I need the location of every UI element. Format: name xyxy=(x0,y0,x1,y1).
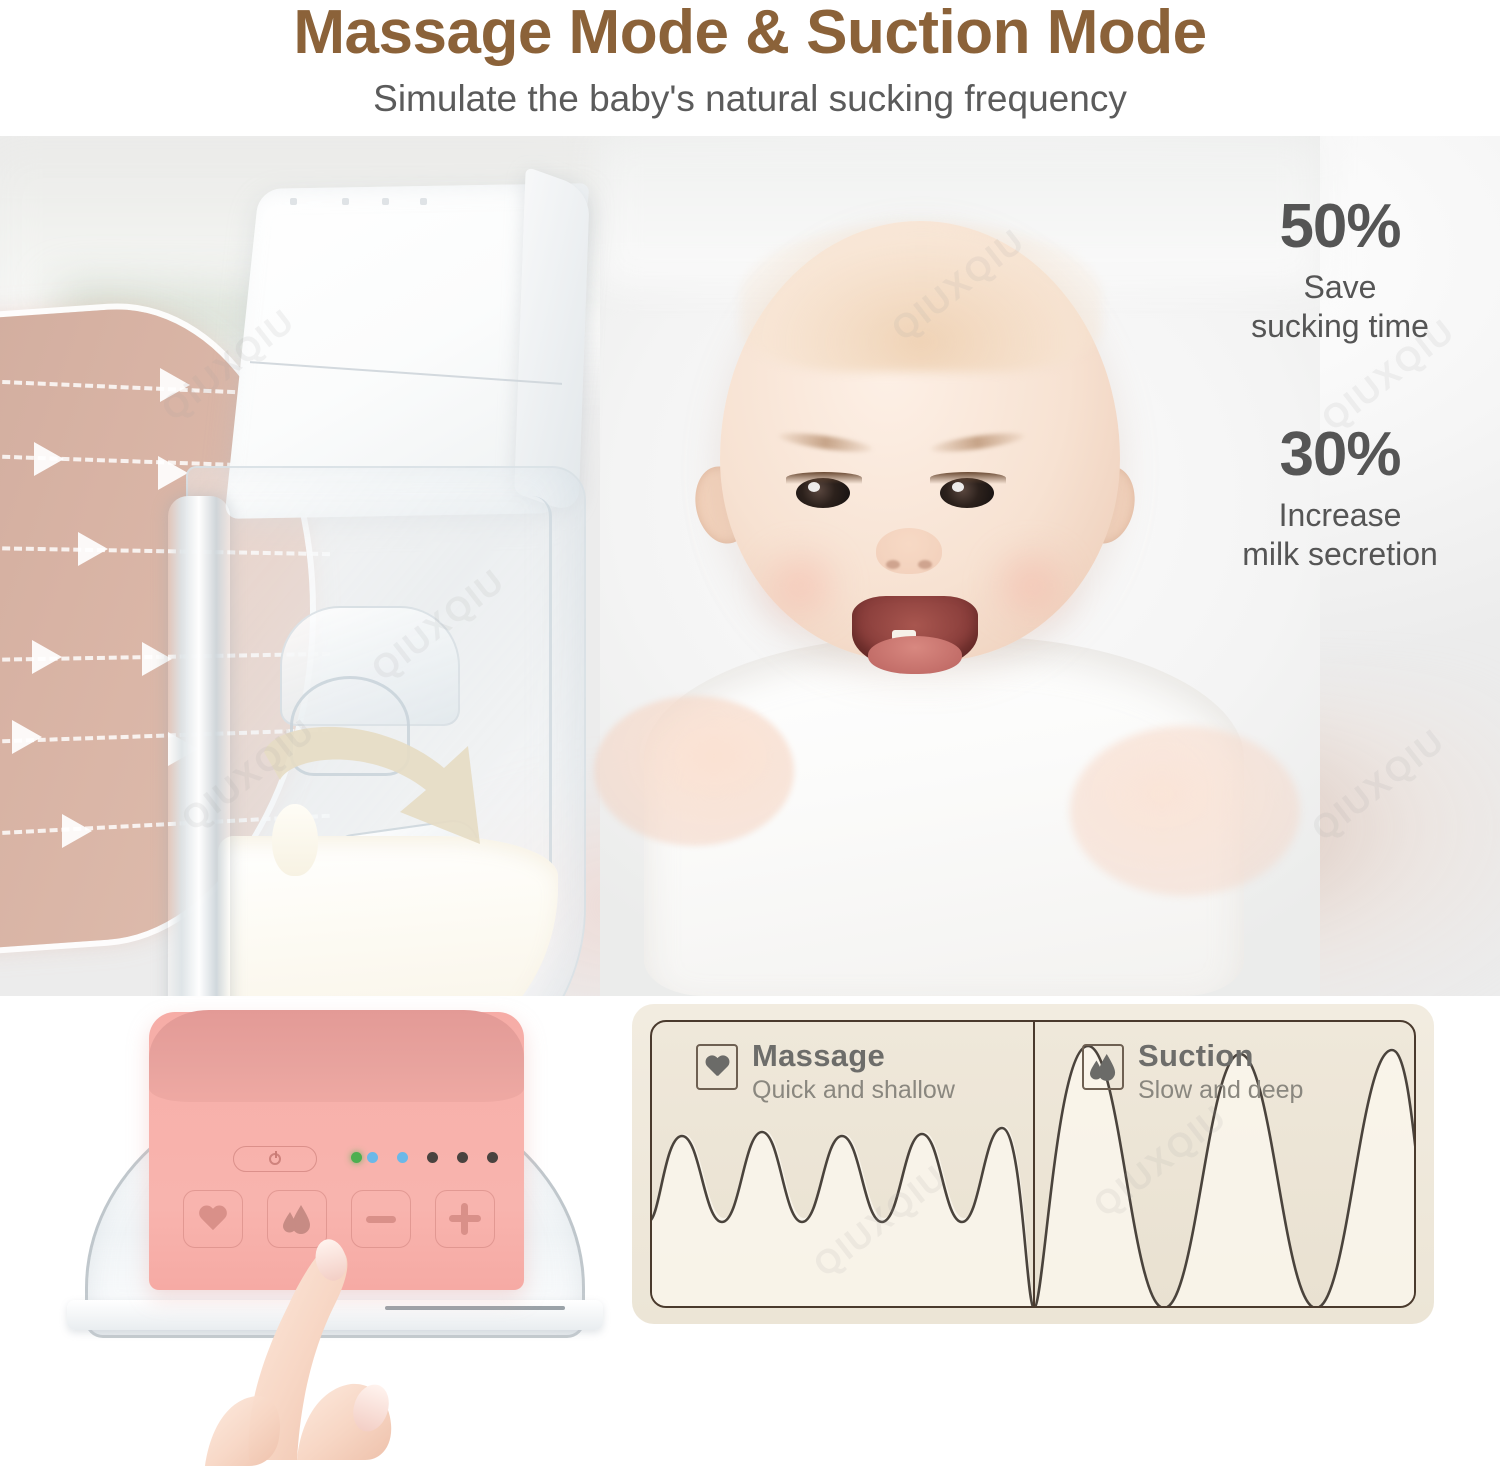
stat-line-2: sucking time xyxy=(1180,307,1500,346)
level-indicator-leds xyxy=(367,1152,497,1164)
hero-image-stage: 50% Save sucking time 30% Increase milk … xyxy=(0,136,1500,996)
baby-nostril-left xyxy=(886,560,900,569)
mode-subtitle: Quick and shallow xyxy=(752,1076,955,1105)
mode-subtitle: Slow and deep xyxy=(1138,1076,1303,1105)
stat-block-increase-secretion: 30% Increase milk secretion xyxy=(1180,424,1500,574)
mode-panel-divider xyxy=(1033,1022,1035,1308)
baby-hair xyxy=(740,222,1102,372)
baby-nostril-right xyxy=(918,560,932,569)
droplet-icon-box xyxy=(1082,1044,1124,1090)
flow-arrow-head xyxy=(158,456,188,490)
stat-line-1: Save xyxy=(1180,268,1500,307)
massage-mode-header: Massage Quick and shallow xyxy=(696,1040,955,1104)
level-led-inactive xyxy=(487,1152,498,1163)
flow-arrow-head xyxy=(34,442,64,476)
level-led-active xyxy=(397,1152,408,1163)
pump-motor-lid xyxy=(514,166,589,515)
header: Massage Mode & Suction Mode Simulate the… xyxy=(0,0,1500,135)
heart-icon-box xyxy=(696,1044,738,1090)
level-led-active xyxy=(367,1152,378,1163)
benefit-stats: 50% Save sucking time 30% Increase milk … xyxy=(1180,196,1500,574)
milk-path-curved-arrow xyxy=(258,716,558,886)
level-led-inactive xyxy=(427,1152,438,1163)
pump-cross-section-illustration xyxy=(0,136,630,996)
stat-percent: 50% xyxy=(1180,196,1500,258)
wearable-pump-device xyxy=(55,1000,615,1360)
page-subtitle: Simulate the baby's natural sucking freq… xyxy=(0,64,1500,117)
breast-shield-flange xyxy=(168,496,230,996)
level-led-inactive xyxy=(457,1152,468,1163)
baby-nose xyxy=(876,528,942,574)
device-top-cap xyxy=(149,1010,524,1102)
mode-comparison-panel: Massage Quick and shallow Suction Slow a… xyxy=(632,1004,1434,1324)
page-title: Massage Mode & Suction Mode xyxy=(0,0,1500,64)
baby-eye-left xyxy=(786,472,862,508)
baby-arm-right xyxy=(1070,726,1300,896)
mode-panel-inner: Massage Quick and shallow Suction Slow a… xyxy=(650,1020,1416,1308)
flow-arrow-head xyxy=(78,532,108,566)
stat-line-1: Increase xyxy=(1180,496,1500,535)
heart-icon xyxy=(705,1056,730,1079)
baby-tongue xyxy=(868,636,962,674)
baby-cheek-left xyxy=(746,546,856,624)
baby-eye-right-lid xyxy=(930,472,1006,484)
massage-mode-text: Massage Quick and shallow xyxy=(752,1040,955,1104)
baby-cheek-right xyxy=(976,546,1086,624)
suction-mode-text: Suction Slow and deep xyxy=(1138,1040,1303,1104)
flow-arrow-head xyxy=(62,814,92,848)
suction-mode-header: Suction Slow and deep xyxy=(1082,1040,1303,1104)
baby-eye-right-glint xyxy=(952,482,964,492)
droplet-icon xyxy=(1090,1053,1116,1081)
status-led-green xyxy=(351,1152,362,1163)
mode-title: Suction xyxy=(1138,1040,1303,1073)
stat-block-save-time: 50% Save sucking time xyxy=(1180,196,1500,346)
flow-arrow-head xyxy=(12,720,42,754)
flow-arrow-head xyxy=(32,640,62,674)
hand-pressing-button xyxy=(205,1208,505,1468)
flow-arrow-head xyxy=(160,368,190,402)
stat-percent: 30% xyxy=(1180,424,1500,486)
baby-eye-left-glint xyxy=(808,482,820,492)
pump-indicator-marks xyxy=(290,198,470,208)
power-icon xyxy=(269,1153,281,1165)
baby-eye-left-lid xyxy=(786,472,862,484)
mode-title: Massage xyxy=(752,1040,955,1073)
power-button[interactable] xyxy=(233,1146,317,1172)
baby-eye-right xyxy=(930,472,1006,508)
stat-line-2: milk secretion xyxy=(1180,535,1500,574)
